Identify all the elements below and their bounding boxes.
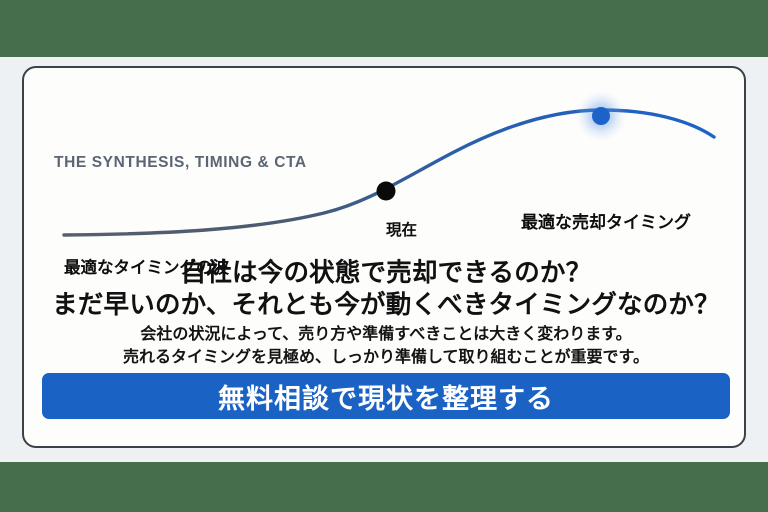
optimal-point-marker: [592, 107, 610, 125]
wave-label-current: 現在: [386, 218, 417, 240]
headline-line-2: まだ早いのか、それとも今が動くべきタイミングなのか？: [24, 284, 746, 321]
slide-card: THE SYNTHESIS, TIMING & CTA: [22, 66, 746, 448]
body-line-1: 会社の状況によって、売り方や準備すべきことは大きく変わります。: [24, 320, 746, 344]
timing-wave-graphic: 最適なタイミングの波 現在 最適な売却タイミング: [24, 68, 746, 268]
body-line-2: 売れるタイミングを見極め、しっかり準備して取り組むことが重要です。: [24, 343, 746, 367]
current-point-marker: [377, 182, 396, 201]
wave-curve-svg: [24, 68, 746, 268]
slide-stage: THE SYNTHESIS, TIMING & CTA: [0, 0, 768, 512]
free-consultation-cta-button[interactable]: 無料相談で現状を整理する: [42, 373, 730, 419]
cta-button-label: 無料相談で現状を整理する: [218, 377, 554, 416]
wave-label-optimal: 最適な売却タイミング: [521, 208, 691, 233]
